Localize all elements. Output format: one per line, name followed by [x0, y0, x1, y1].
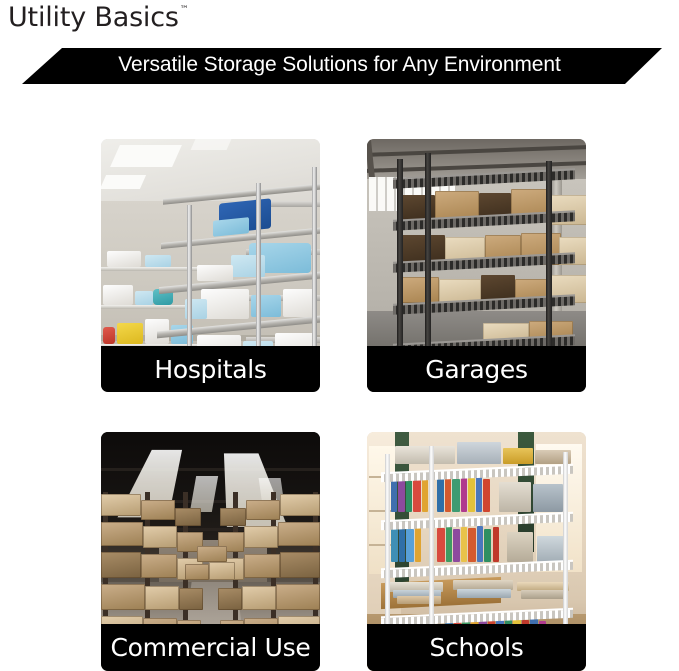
pallet-box: [220, 508, 246, 526]
category-card-schools[interactable]: Schools: [367, 432, 586, 671]
cardboard-box: [401, 277, 439, 303]
linen-stack: [201, 289, 249, 319]
book-spine: [437, 478, 444, 512]
supply-bin: [103, 327, 115, 344]
book-spine: [413, 479, 421, 512]
category-card-commercial-use[interactable]: Commercial Use: [101, 432, 320, 671]
supply-bin: [117, 323, 143, 344]
book-spine: [406, 529, 414, 562]
book-spine: [452, 479, 460, 512]
pallet-box: [101, 522, 143, 546]
book-spine: [468, 478, 475, 512]
brand-logo: Utility Basics™: [8, 2, 188, 33]
banner-headline: Versatile Storage Solutions for Any Envi…: [0, 48, 679, 84]
pallet-box: [101, 584, 145, 610]
card-caption: Schools: [367, 624, 586, 671]
storage-bin: [507, 532, 533, 562]
headline-banner: Versatile Storage Solutions for Any Envi…: [0, 48, 679, 88]
shelf-post: [385, 454, 390, 650]
pallet-box: [141, 554, 177, 578]
supply-box: [103, 285, 133, 305]
book-spine: [415, 527, 421, 562]
book-stack: [397, 596, 441, 604]
card-caption: Hospitals: [101, 346, 320, 392]
category-card-garages[interactable]: Garages: [367, 139, 586, 392]
book-spine: [437, 528, 445, 562]
storage-bin: [537, 536, 565, 562]
shelf-post: [397, 159, 403, 374]
wall-shelf: [101, 267, 197, 271]
card-caption: Garages: [367, 346, 586, 392]
shelf-post: [563, 452, 568, 648]
pallet-box: [246, 500, 280, 520]
shelf-post: [429, 446, 434, 650]
shelf-post: [546, 161, 552, 369]
pallet-box: [101, 494, 141, 516]
book-spine: [391, 478, 397, 512]
book-stack: [521, 590, 567, 599]
book-stack: [457, 589, 511, 598]
storage-item: [503, 448, 533, 464]
book-spine: [445, 476, 451, 512]
pallet-box: [242, 586, 276, 610]
book-spine: [406, 476, 412, 512]
card-caption: Commercial Use: [101, 624, 320, 671]
pallet-box: [218, 588, 242, 610]
ceiling-light-panel: [191, 139, 232, 150]
pallet-box: [175, 508, 201, 526]
storage-item: [395, 446, 455, 464]
book-spine: [391, 528, 398, 562]
pallet-box: [197, 546, 227, 562]
pallet-box: [244, 554, 280, 578]
supply-box: [107, 251, 141, 267]
ceiling-beam: [101, 468, 320, 471]
supply-box: [197, 265, 233, 281]
book-spine: [453, 529, 460, 562]
book-spine: [461, 477, 467, 512]
book-spine: [399, 526, 405, 562]
book-spine: [468, 528, 476, 562]
pallet-box: [209, 562, 235, 580]
pallet-box: [244, 526, 278, 548]
wire-shelf: [381, 560, 573, 578]
book-spine: [422, 477, 428, 512]
pallet-box: [280, 494, 320, 516]
book-spine: [483, 479, 490, 512]
pallet-box: [141, 500, 175, 520]
shelf-post: [425, 153, 431, 377]
pallet-box: [185, 564, 209, 580]
pallet-box: [143, 526, 177, 548]
supply-box: [135, 291, 153, 305]
pallet-box: [278, 522, 320, 546]
book-spine: [476, 476, 482, 512]
ceiling-light-panel: [101, 175, 146, 189]
storage-bin: [533, 484, 563, 512]
book-spine: [484, 529, 491, 562]
ceiling-light-panel: [110, 145, 182, 167]
trademark-symbol: ™: [180, 5, 189, 15]
book-spine: [493, 527, 499, 562]
category-card-hospitals[interactable]: Hospitals: [101, 139, 320, 392]
brand-name: Utility Basics: [8, 2, 179, 33]
pallet-box: [280, 552, 320, 578]
storage-bin: [499, 482, 531, 512]
pallet-box: [276, 584, 320, 610]
book-spine: [446, 526, 452, 562]
pallet-box: [101, 552, 141, 578]
book-spine: [398, 480, 405, 512]
storage-item: [457, 442, 501, 464]
book-spine: [461, 527, 467, 562]
supply-box: [145, 255, 171, 267]
book-spine: [477, 526, 483, 562]
pallet-box: [179, 588, 203, 610]
pallet-box: [145, 586, 179, 610]
